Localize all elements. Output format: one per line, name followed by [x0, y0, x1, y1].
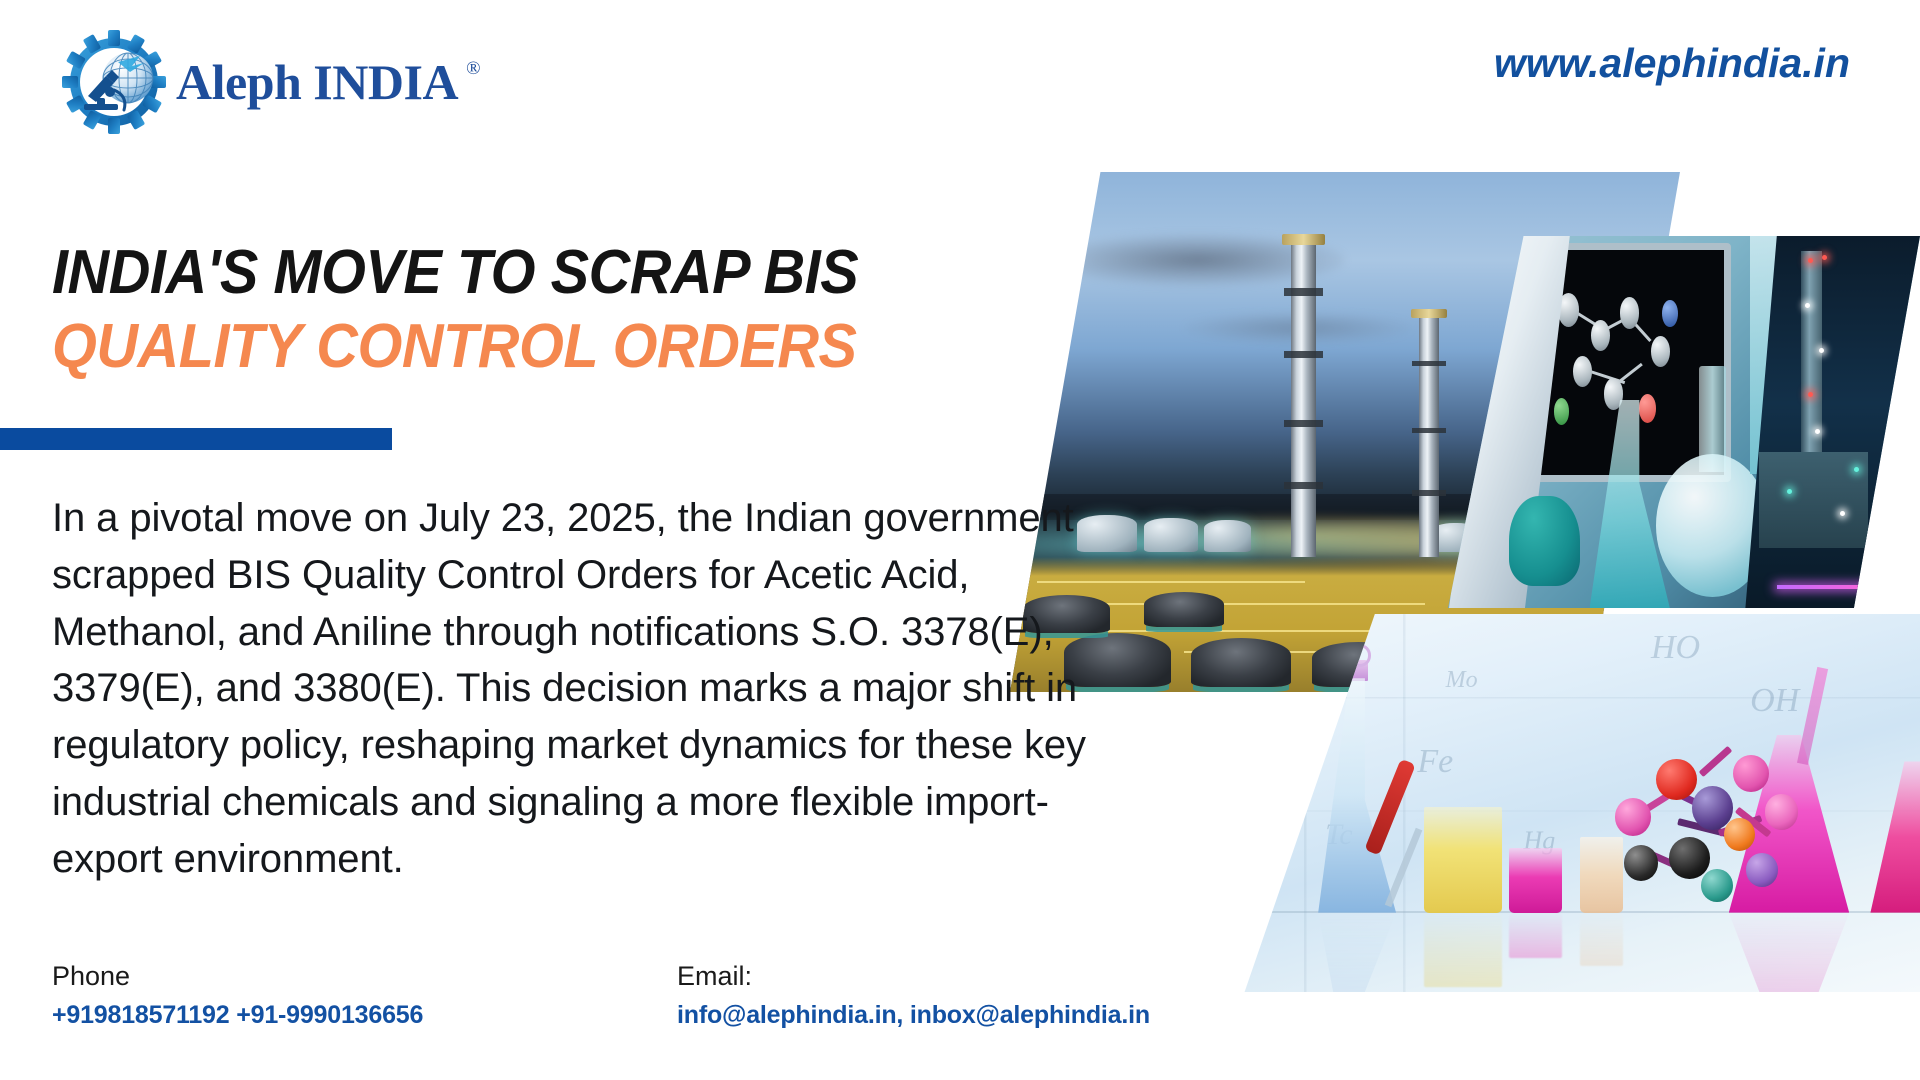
brand-lockup[interactable]: Aleph INDIA®: [62, 30, 480, 134]
email-label: Email:: [677, 958, 1237, 994]
ghost-symbol: Cr: [1276, 727, 1325, 780]
headline: INDIA'S MOVE TO SCRAP BIS QUALITY CONTRO…: [52, 242, 1052, 378]
ghost-symbol: HO: [1651, 629, 1700, 667]
registered-trademark-icon: ®: [466, 59, 480, 78]
brand-wordmark-text: Aleph INDIA: [176, 54, 458, 110]
ghost-symbol: Mo: [1446, 667, 1478, 694]
headline-line-1: INDIA'S MOVE TO SCRAP BIS: [52, 242, 982, 304]
ghost-symbol: 24: [1290, 697, 1312, 723]
phone-value[interactable]: +919818571192 +91-9990136656: [52, 1000, 677, 1031]
contact-email-group: Email: info@alephindia.in, inbox@alephin…: [677, 958, 1237, 1032]
laboratory-glassware-and-molecule-photo: [1448, 236, 1920, 608]
email-value[interactable]: info@alephindia.in, inbox@alephindia.in: [677, 1000, 1237, 1031]
website-url-link[interactable]: www.alephindia.in: [1494, 40, 1850, 87]
poster-canvas: Aleph INDIA® www.alephindia.in: [0, 0, 1920, 1080]
ghost-symbol: Hg: [1524, 826, 1556, 856]
accent-bar-divider: [0, 428, 392, 450]
headline-line-2: QUALITY CONTROL ORDERS: [52, 316, 982, 378]
body-paragraph: In a pivotal move on July 23, 2025, the …: [52, 490, 1112, 888]
header: Aleph INDIA® www.alephindia.in: [0, 0, 1920, 150]
gear-globe-microscope-logo-icon: [62, 30, 166, 134]
ghost-symbol: Fe: [1417, 743, 1453, 781]
contact-phone-group: Phone +919818571192 +91-9990136656: [52, 958, 677, 1032]
brand-wordmark: Aleph INDIA®: [176, 57, 480, 107]
phone-label: Phone: [52, 958, 677, 994]
ghost-symbol: OH: [1750, 682, 1799, 720]
ghost-symbol: Tc: [1325, 818, 1352, 852]
colorful-chemistry-glassware-and-molecular-models-photo: Cr 24 Fe Tc HO OH Hg Mo: [1212, 614, 1920, 992]
contact-footer: Phone +919818571192 +91-9990136656 Email…: [52, 958, 1252, 1032]
